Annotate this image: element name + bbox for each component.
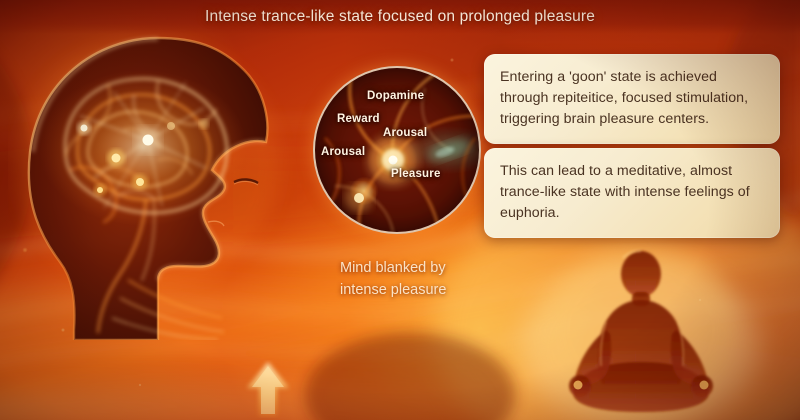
info-card-2: This can lead to a meditative, almost tr… [484,148,780,238]
info-card-1: Entering a 'goon' state is achieved thro… [484,54,780,144]
circle-label-arousal-mid-left: Arousal [321,146,365,158]
page-title: Intense trance-like state focused on pro… [205,8,595,26]
upward-energy-arrow [244,360,292,418]
infographic-canvas: Dopamine Reward Arousal Arousal Pleasure… [0,0,800,420]
brain-pleasure-center-detail: Dopamine Reward Arousal Arousal Pleasure [313,66,481,234]
circle-label-reward: Reward [337,113,380,125]
circle-label-arousal-upper-right: Arousal [383,127,427,139]
brain-to-detail-connector-arrow [150,112,340,134]
circle-label-pleasure: Pleasure [391,168,441,180]
info-card-1-text: Entering a 'goon' state is achieved thro… [500,67,764,130]
head-illustration [8,30,328,340]
caption-line-2: intense pleasure [340,280,520,302]
mind-blanked-caption: Mind blanked by intense pleasure [340,258,520,302]
info-card-2-text: This can lead to a meditative, almost tr… [500,161,764,224]
caption-line-1: Mind blanked by [340,258,520,280]
title-band: Intense trance-like state focused on pro… [0,0,800,34]
circle-label-dopamine: Dopamine [367,90,424,102]
meditating-silhouette [528,238,758,420]
